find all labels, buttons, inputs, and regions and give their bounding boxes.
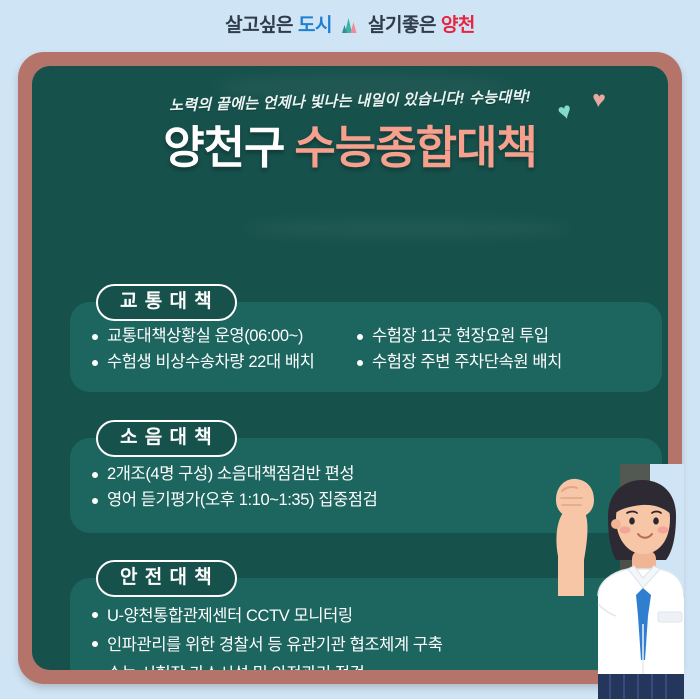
list-item-label: 교통대책상황실 운영(06:00~)	[107, 324, 303, 350]
bullet-dot-icon	[92, 612, 98, 618]
section-noise-bullets: 2개조(4명 구성) 소음대책점검반 편성 영어 듣기평가(오후 1:10~1:…	[92, 462, 377, 513]
title-plan: 수능종합대책	[294, 122, 536, 173]
list-item: 수험장 11곳 현장요원 투입	[357, 324, 549, 350]
section-safety-header: 안 전 대 책	[96, 560, 237, 597]
list-item-label: 수험장 주변 주차단속원 배치	[372, 350, 562, 376]
bullet-dot-icon	[92, 334, 98, 340]
list-item: 수험장 주변 주차단속원 배치	[357, 350, 562, 376]
bullet-dot-icon	[92, 472, 98, 478]
yangcheon-building-mark-icon	[339, 14, 361, 36]
list-item: U-양천통합관제센터 CCTV 모니터링	[92, 602, 443, 631]
list-item-label: 수능 시험장 가스시설 및 안전관리 점검	[107, 660, 364, 670]
section-traffic-header: 교 통 대 책	[96, 284, 237, 321]
list-item: 수능 시험장 가스시설 및 안전관리 점검	[92, 660, 443, 670]
bullet-dot-icon	[92, 641, 98, 647]
page-title: 양천구수능종합대책	[32, 124, 668, 171]
list-item-label: U-양천통합관제센터 CCTV 모니터링	[107, 602, 353, 631]
section-traffic-bullets: 교통대책상황실 운영(06:00~) 수험장 11곳 현장요원 투입 수험생 비…	[92, 324, 562, 375]
banner-slogan-district: 양천	[441, 16, 475, 35]
chalkboard-frame: 노력의 끝에는 언제나 빛나는 내일이 있습니다! 수능대박! 양천구수능종합대…	[18, 52, 682, 684]
banner-slogan-part2: 살기좋은	[368, 16, 436, 35]
list-item: 영어 듣기평가(오후 1:10~1:35) 집중점검	[92, 488, 377, 514]
list-item: 2개조(4명 구성) 소음대책점검반 편성	[92, 462, 377, 488]
list-item: 인파관리를 위한 경찰서 등 유관기관 협조체계 구축	[92, 631, 443, 660]
list-item-label: 수험생 비상수송차량 22대 배치	[107, 350, 314, 376]
bullet-dot-icon	[92, 498, 98, 504]
title-district: 양천구	[163, 122, 284, 173]
bullet-dot-icon	[357, 334, 363, 340]
list-item: 수험생 비상수송차량 22대 배치	[92, 350, 357, 376]
section-noise-label: 소 음 대 책	[120, 427, 213, 448]
banner-slogan-part1: 살고싶은	[225, 16, 293, 35]
list-item-label: 인파관리를 위한 경찰서 등 유관기관 협조체계 구축	[107, 631, 443, 660]
list-item-label: 수험장 11곳 현장요원 투입	[372, 324, 549, 350]
section-safety-label: 안 전 대 책	[120, 567, 213, 588]
bullet-row: 교통대책상황실 운영(06:00~) 수험장 11곳 현장요원 투입	[92, 324, 562, 350]
chalkboard-surface: 노력의 끝에는 언제나 빛나는 내일이 있습니다! 수능대박! 양천구수능종합대…	[32, 66, 668, 670]
section-noise-header: 소 음 대 책	[96, 420, 237, 457]
heart-teal-icon: ♥	[555, 99, 574, 125]
list-item-label: 영어 듣기평가(오후 1:10~1:35) 집중점검	[107, 488, 377, 514]
heart-pink-icon: ♥	[591, 87, 607, 111]
bullet-dot-icon	[357, 360, 363, 366]
list-item-label: 2개조(4명 구성) 소음대책점검반 편성	[107, 462, 354, 488]
site-banner: 살고싶은 도시 살기좋은 양천	[0, 0, 700, 50]
section-safety-bullets: U-양천통합관제센터 CCTV 모니터링 인파관리를 위한 경찰서 등 유관기관…	[92, 602, 443, 670]
bullet-row: 수험생 비상수송차량 22대 배치 수험장 주변 주차단속원 배치	[92, 350, 562, 376]
bullet-dot-icon	[92, 360, 98, 366]
heart-decorations: ♥ ♥	[556, 88, 632, 128]
banner-slogan-city: 도시	[298, 16, 332, 35]
section-traffic-label: 교 통 대 책	[120, 291, 213, 312]
chalk-smudge	[242, 218, 572, 238]
list-item: 교통대책상황실 운영(06:00~)	[92, 324, 357, 350]
